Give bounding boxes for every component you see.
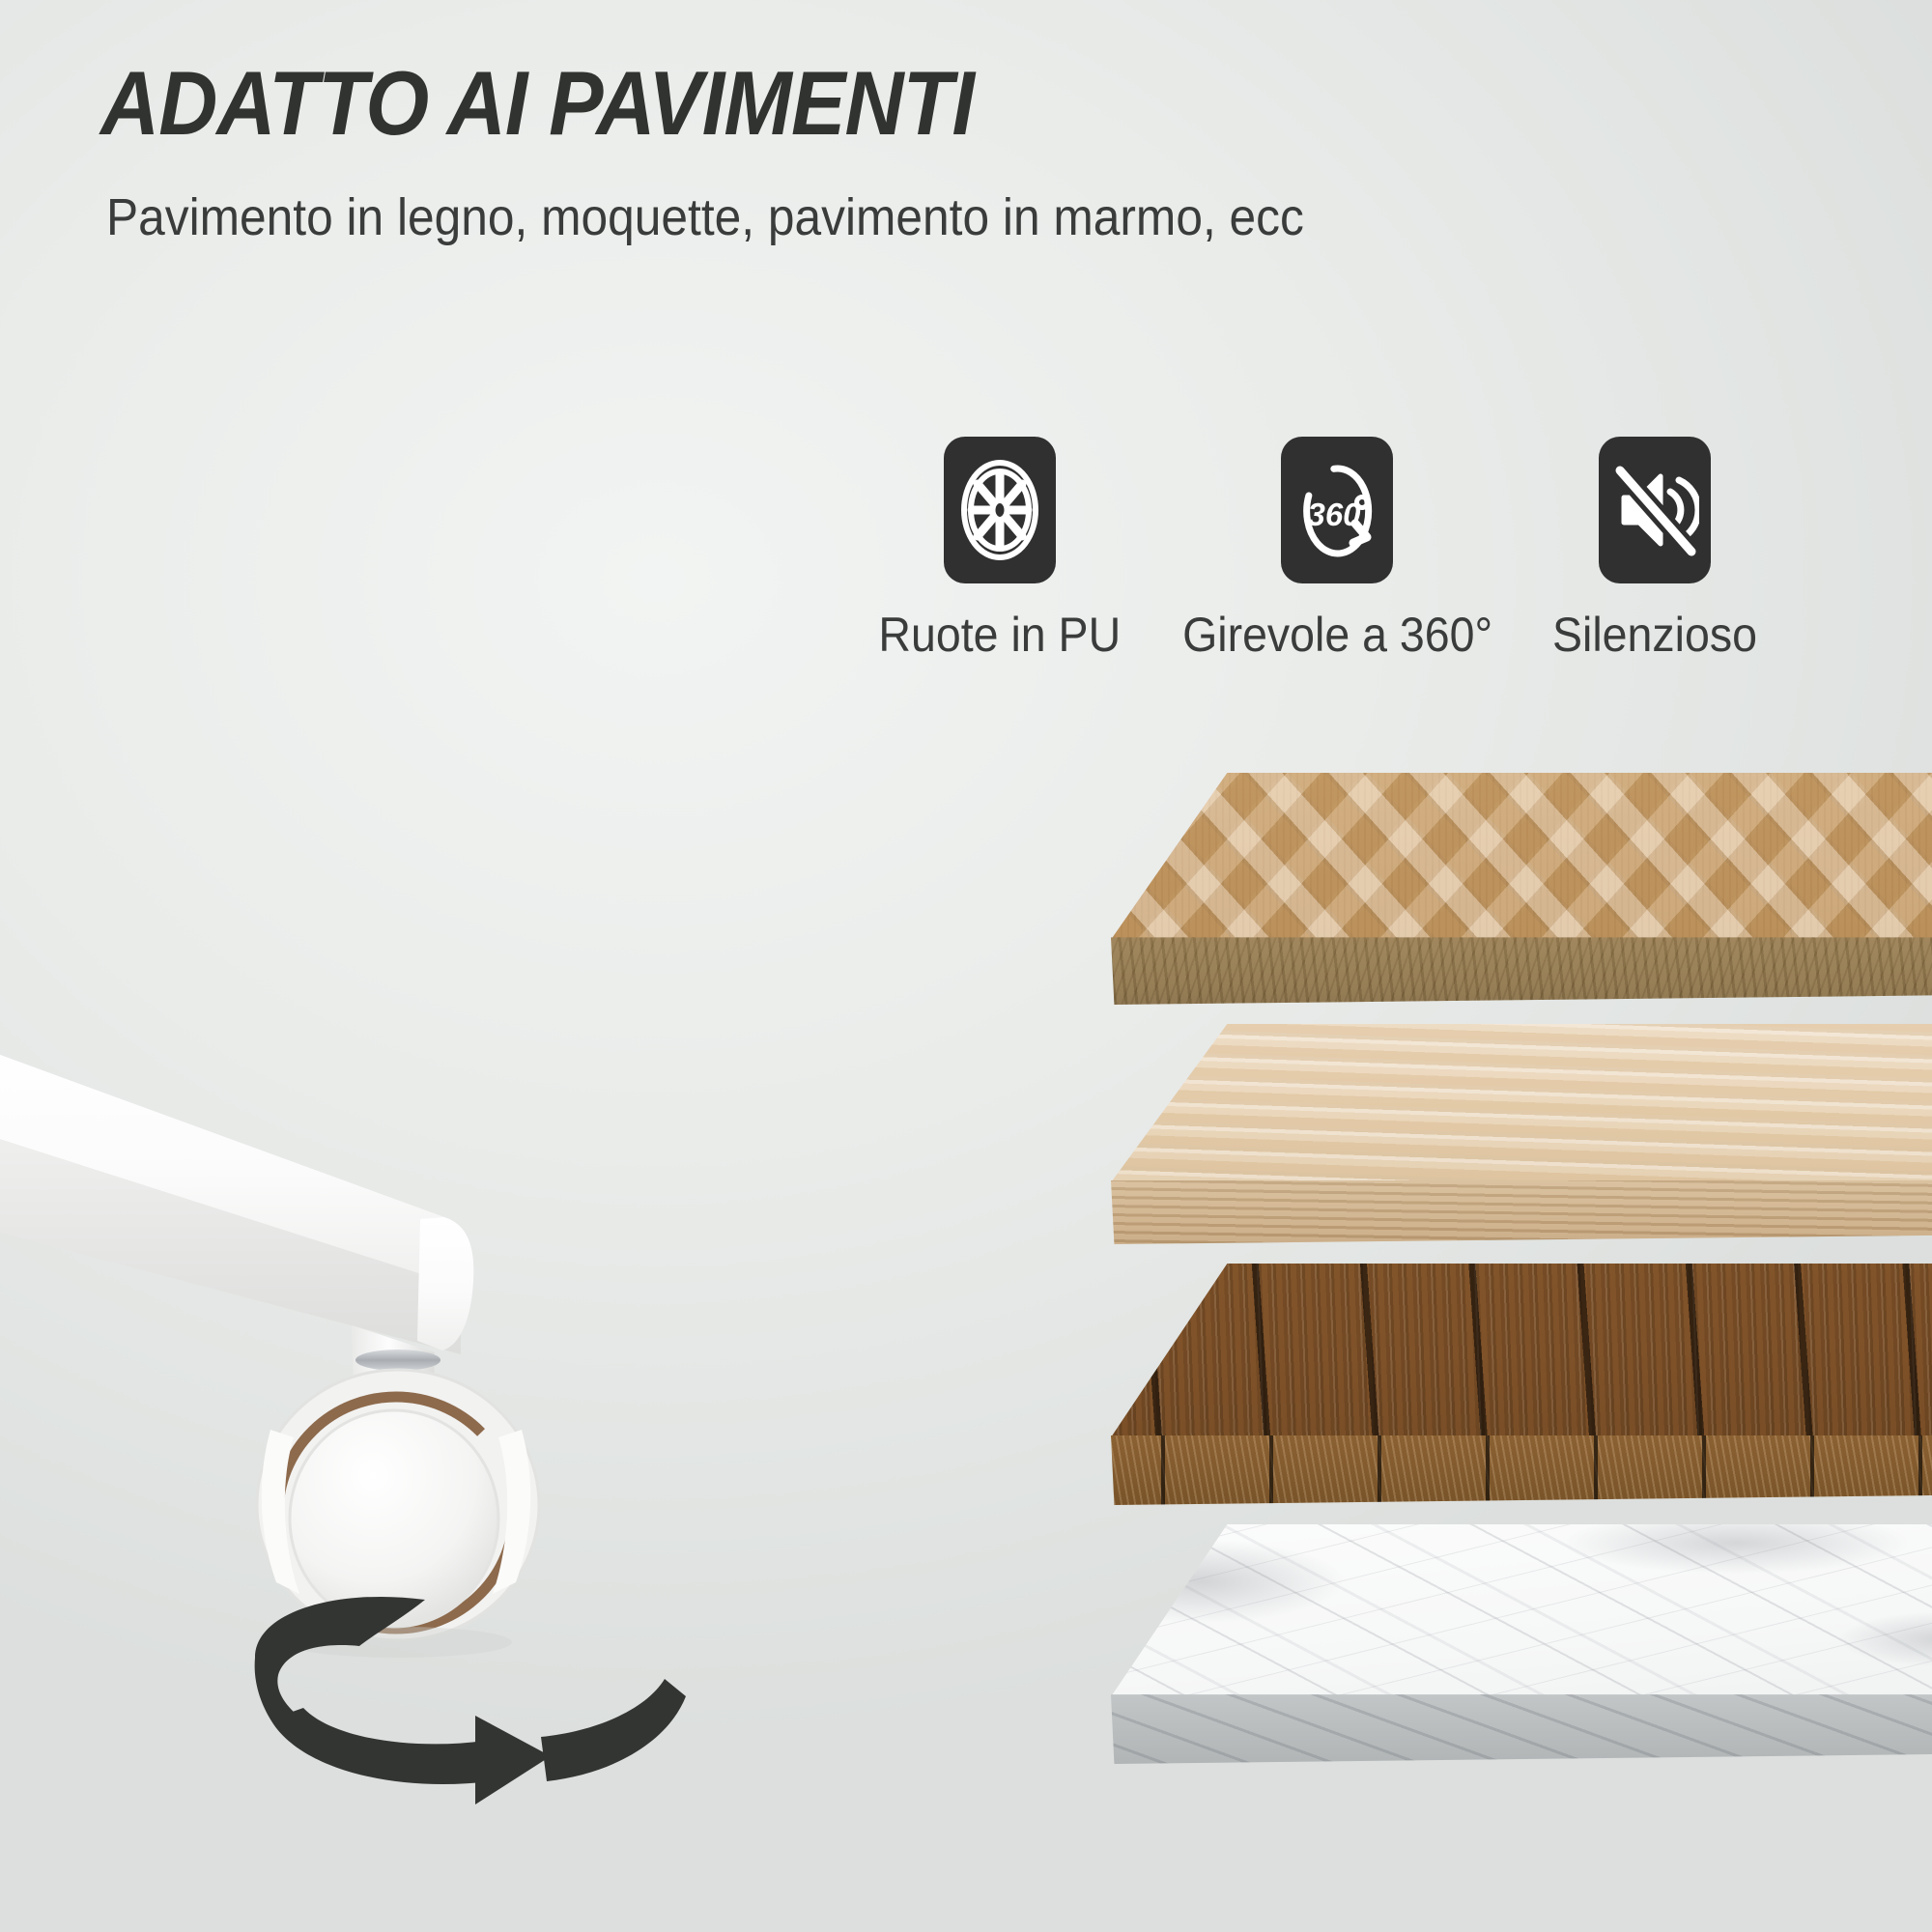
light-oak-slab bbox=[1111, 1024, 1932, 1244]
slab-edge bbox=[1111, 1180, 1932, 1244]
feature-ruote-in-pu: Ruote in PU bbox=[869, 437, 1130, 663]
herringbone-parquet-slab bbox=[1111, 773, 1932, 1005]
page-title: ADATTO AI PAVIMENTI bbox=[100, 58, 1405, 149]
slab-edge bbox=[1111, 937, 1932, 1005]
slab-edge bbox=[1111, 1694, 1932, 1764]
rotation-arrow-body bbox=[270, 1708, 491, 1784]
rotation-arrow-head bbox=[475, 1716, 551, 1804]
slab-edge bbox=[1111, 1435, 1932, 1506]
slab-top-surface bbox=[1111, 1264, 1932, 1437]
marble-slab bbox=[1111, 1524, 1932, 1764]
infographic-canvas: ADATTO AI PAVIMENTI Pavimento in legno, … bbox=[0, 0, 1932, 1932]
rotate-360-icon: 360 bbox=[1292, 452, 1382, 568]
feature-silenzioso: Silenzioso bbox=[1545, 437, 1765, 663]
feature-label: Girevole a 360° bbox=[1182, 607, 1492, 663]
mute-speaker-icon bbox=[1610, 457, 1699, 563]
mute-speaker-badge bbox=[1599, 437, 1711, 583]
feature-label: Ruote in PU bbox=[878, 607, 1121, 663]
walnut-plank-slab bbox=[1111, 1264, 1932, 1505]
feature-badge-row: Ruote in PU 360 Girevole a 360° bbox=[869, 437, 1893, 678]
rotation-arrow-indicator bbox=[232, 1575, 686, 1835]
feature-girevole-360: 360 Girevole a 360° bbox=[1171, 437, 1504, 663]
page-subtitle: Pavimento in legno, moquette, pavimento … bbox=[106, 191, 1528, 243]
chair-leg-endcap bbox=[417, 1217, 473, 1350]
pu-wheel-badge bbox=[944, 437, 1056, 583]
caster-bolt bbox=[355, 1350, 440, 1371]
rotation-arrow-right-sweep bbox=[541, 1679, 686, 1781]
rotation-arrow-tail bbox=[255, 1597, 425, 1727]
slab-top-surface bbox=[1111, 773, 1932, 940]
rotate-360-badge: 360 bbox=[1281, 437, 1393, 583]
slab-top-surface bbox=[1111, 1024, 1932, 1182]
pu-wheel-icon bbox=[955, 453, 1044, 567]
slab-top-surface bbox=[1111, 1524, 1932, 1697]
feature-label: Silenzioso bbox=[1552, 607, 1757, 663]
svg-text:360: 360 bbox=[1308, 497, 1362, 532]
